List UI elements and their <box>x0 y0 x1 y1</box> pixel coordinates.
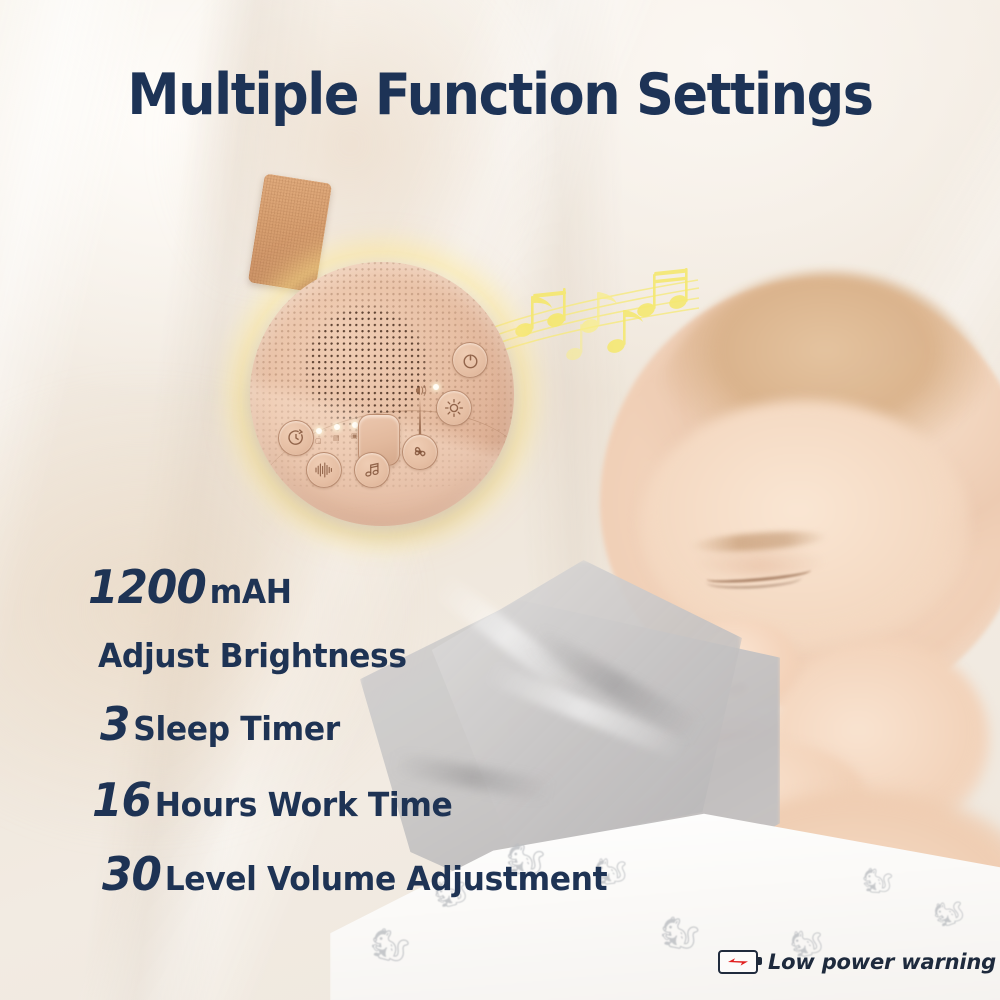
brightness-button[interactable] <box>436 390 472 426</box>
feature-item-volume: 30Level Volume Adjustment <box>102 847 678 901</box>
fan-button[interactable] <box>402 434 438 470</box>
lightning-bolt-icon <box>727 956 749 968</box>
led-label-icon: ▢ <box>315 438 322 445</box>
low-power-label: Low power warning <box>768 950 996 974</box>
feature-item-brightness: Adjust Brightness <box>98 636 678 675</box>
indicator-led <box>433 384 439 390</box>
led-label-icon: ▤ <box>333 435 340 442</box>
fan-icon <box>410 442 430 462</box>
feature-label: mAH <box>210 572 292 611</box>
feature-item-battery: 1200mAH <box>88 560 677 614</box>
blanket-print-motif: 🐿 <box>861 868 894 895</box>
product-feature-image: 🐿 🐿 🐿 🐿 🐿 🐿 🐿 🐿 <box>0 0 1000 1000</box>
feature-number: 3 <box>100 697 129 751</box>
music-button[interactable] <box>354 452 390 488</box>
sun-icon <box>444 398 464 418</box>
sleep-timer-button[interactable] <box>278 420 314 456</box>
indicator-led <box>334 424 340 430</box>
feature-label: Level Volume Adjustment <box>165 859 608 898</box>
feature-label: Adjust Brightness <box>98 636 407 675</box>
white-noise-button[interactable] <box>306 452 342 488</box>
power-icon <box>461 351 480 370</box>
timer-icon <box>286 428 306 448</box>
feature-number: 16 <box>92 773 151 827</box>
feature-label: Sleep Timer <box>133 709 340 748</box>
feature-item-sleep-timer: 3Sleep Timer <box>100 697 678 751</box>
feature-number: 30 <box>102 847 161 901</box>
power-button[interactable] <box>452 342 488 378</box>
feature-item-work-time: 16Hours Work Time <box>92 773 677 827</box>
page-title: Multiple Function Settings <box>40 62 960 128</box>
led-label-icon: ▣ <box>351 433 358 440</box>
feature-number: 1200 <box>88 560 206 614</box>
indicator-led <box>316 428 322 434</box>
battery-low-icon <box>718 950 758 974</box>
feature-list: 1200mAH Adjust Brightness 3Sleep Timer 1… <box>88 560 708 901</box>
control-panel-surface <box>250 262 514 526</box>
sound-machine-device[interactable]: ▢ ▤ ▣ <box>232 178 532 538</box>
music-note-icon <box>362 460 382 480</box>
device-body: ▢ ▤ ▣ <box>250 262 514 526</box>
sound-wave-icon <box>313 460 335 480</box>
feature-label: Hours Work Time <box>155 785 453 824</box>
low-power-warning: Low power warning <box>718 950 996 974</box>
